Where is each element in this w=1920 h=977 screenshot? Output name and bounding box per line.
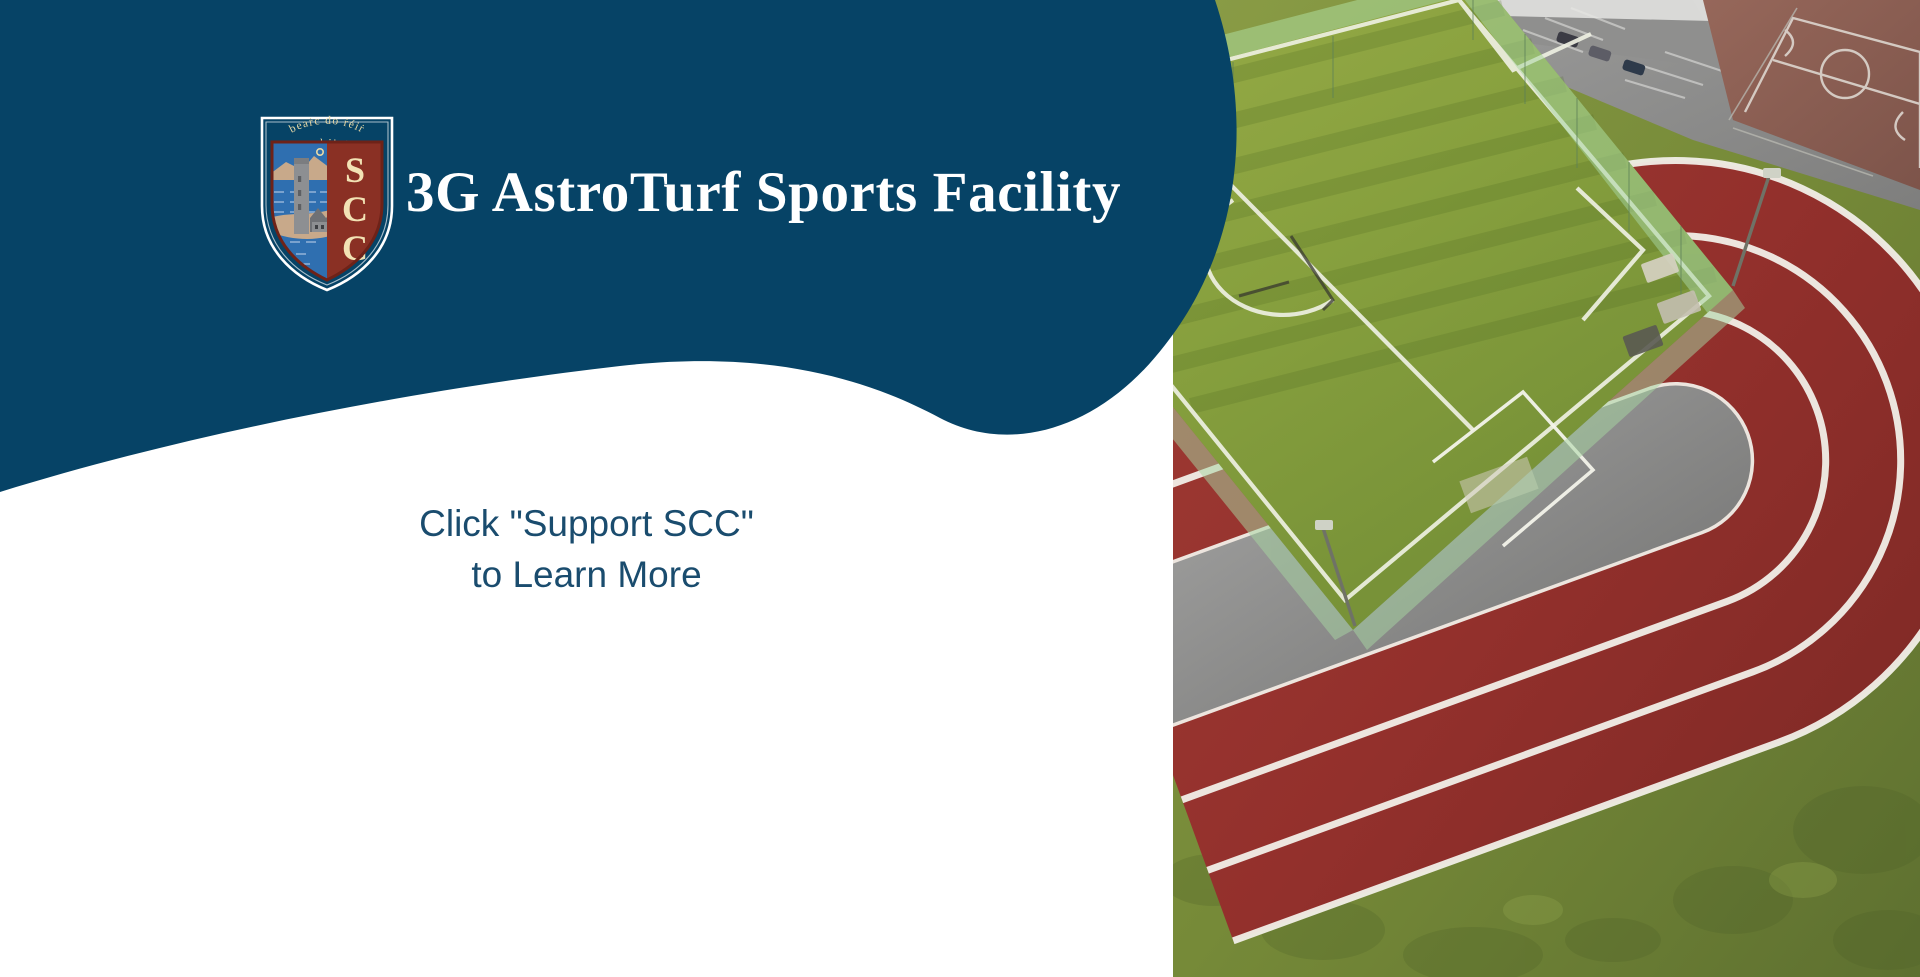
cta-line-1: Click "Support SCC" (0, 498, 1173, 549)
scc-crest-icon: beaṙc do ṙéiṙ áṙ mbṙiaṫaṙ (252, 96, 402, 292)
crest-svg: beaṙc do ṙéiṙ áṙ mbṙiaṫaṙ (252, 96, 402, 292)
cta-line-2: to Learn More (0, 549, 1173, 600)
hero-banner: beaṙc do ṙéiṙ áṙ mbṙiaṫaṙ (0, 0, 1920, 977)
svg-text:S: S (345, 150, 365, 190)
hero-header: beaṙc do ṙéiṙ áṙ mbṙiaṫaṙ (0, 0, 1300, 380)
cta-text-block: Click "Support SCC" to Learn More (0, 498, 1173, 600)
svg-text:C: C (342, 189, 368, 229)
page-title: 3G AstroTurf Sports Facility (406, 164, 1121, 221)
crest-scene (270, 140, 330, 280)
